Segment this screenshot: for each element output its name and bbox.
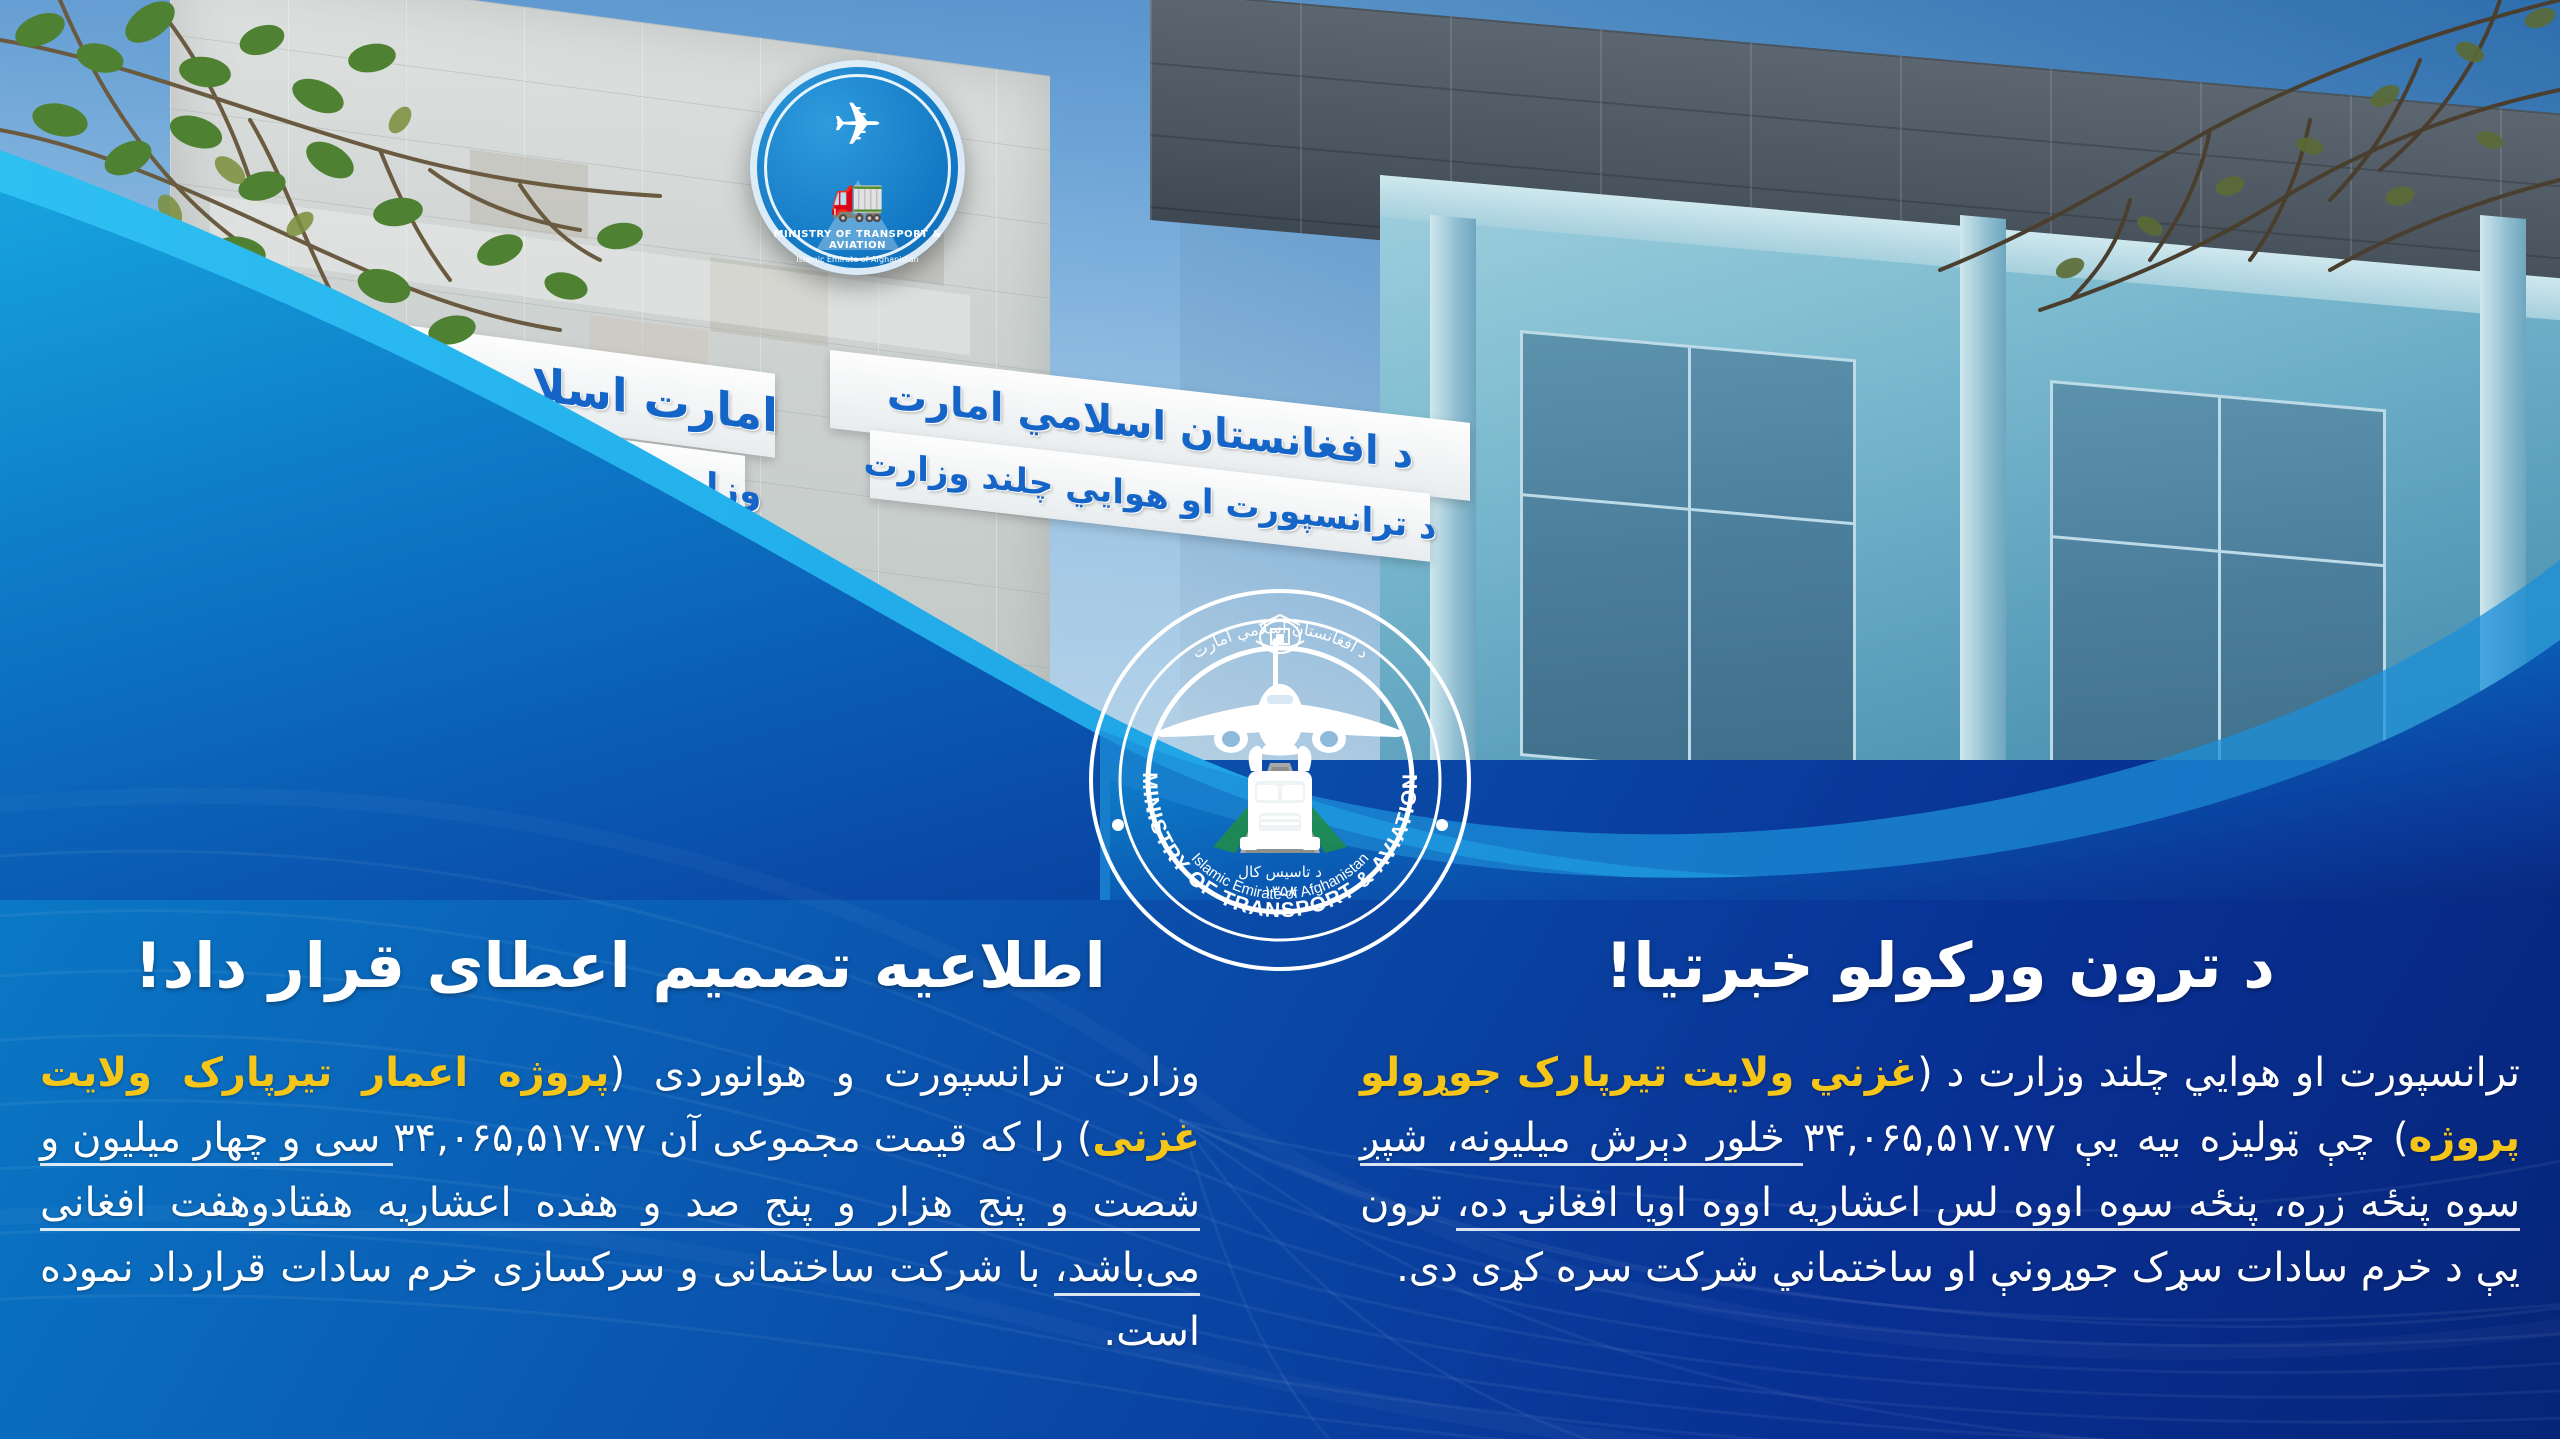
dari-amount: ۳۴,۰۶۵,۵۱۷.۷۷ xyxy=(393,1115,646,1161)
airplane-icon xyxy=(1157,638,1403,756)
ministry-emblem-svg: د افغانستان اسلامي امارت MINISTRY OF TRA… xyxy=(1085,585,1475,975)
dari-paren-open: ( xyxy=(609,1050,625,1096)
ministry-emblem: د افغانستان اسلامي امارت MINISTRY OF TRA… xyxy=(1085,585,1475,975)
emblem-founded-label: د تاسیس کال xyxy=(1238,863,1322,881)
pashto-body: ترانسپورت او هوایي چلند وزارت د (غزني ول… xyxy=(1360,1041,2520,1300)
pashto-body-part2: چې ټولیزه بیه یې xyxy=(2056,1115,2393,1161)
dari-body-part2: را که قیمت مجموعی آن xyxy=(646,1115,1076,1161)
emblem-founded-year: ۱۳۵۸ xyxy=(1264,882,1296,900)
pashto-body-part1: ترانسپورت او هوایي چلند وزارت د xyxy=(1933,1050,2520,1096)
pashto-column: د ترون ورکولو خبرتیا! ترانسپورت او هوایي… xyxy=(1360,930,2520,1340)
dari-body-part1: وزارت ترانسپورت و هوانوردی xyxy=(625,1050,1200,1096)
dari-paren-close: ) xyxy=(1077,1115,1093,1161)
pashto-amount: ۳۴,۰۶۵,۵۱۷.۷۷ xyxy=(1803,1115,2056,1161)
pashto-paren-open: ( xyxy=(1917,1050,1933,1096)
dari-body: وزارت ترانسپورت و هوانوردی (پروژه اعمار … xyxy=(40,1041,1200,1365)
announcement-poster: امارت اسلامی افغانستان وزارت ترانسپورت و… xyxy=(0,0,2560,1439)
pashto-paren-close: ) xyxy=(2393,1115,2409,1161)
pashto-headline: د ترون ورکولو خبرتیا! xyxy=(1360,930,2520,1001)
truck-icon xyxy=(1240,746,1320,850)
dari-headline: اطلاعیه تصمیم اعطای قرار داد! xyxy=(40,930,1200,1001)
dari-column: اطلاعیه تصمیم اعطای قرار داد! وزارت تران… xyxy=(40,930,1200,1405)
dari-body-part3: با شرکت ساختمانی و سرکسازی خرم سادات قرا… xyxy=(40,1245,1200,1356)
